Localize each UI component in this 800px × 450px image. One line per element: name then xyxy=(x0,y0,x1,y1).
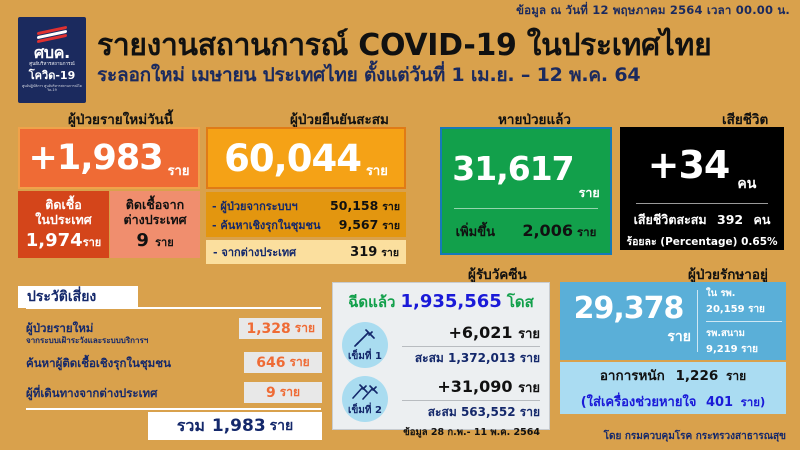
cumulative-row-unit: ราย xyxy=(382,218,400,234)
risk-history-title-tab: ประวัติเสี่ยง xyxy=(18,286,138,308)
dose-1-accum-unit: ราย xyxy=(520,351,540,365)
treating-hospital-label: ใน รพ. xyxy=(706,286,786,301)
syringe-single-icon xyxy=(352,327,378,349)
vaccine-panel: ฉีดแล้ว 1,935,565 โดส เข็มที่ 1 +6,021 ร… xyxy=(332,282,550,430)
foreign-label-line1: ติดเชื้อจาก xyxy=(123,198,186,212)
dose-1-delta: +6,021 xyxy=(449,323,513,342)
data-timestamp: ข้อมูล ณ วันที่ 12 พฤษภาคม 2564 เวลา 00.… xyxy=(516,2,790,20)
syringe-double-icon xyxy=(350,381,380,403)
recovered-value: 31,617 xyxy=(452,152,573,185)
divider xyxy=(706,321,782,322)
dose-2-accum-value: 563,552 xyxy=(461,405,516,419)
deaths-box: +34 คน เสียชีวิตสะสม 392 คน ร้อยละ (Perc… xyxy=(620,127,784,250)
treating-unit: ราย xyxy=(667,326,691,348)
new-cases-domestic-box: ติดเชื้อ ในประเทศ 1,974ราย xyxy=(18,191,109,258)
dose-1-delta-unit: ราย xyxy=(518,327,540,342)
ventilator-label: (ใส่เครื่องช่วยหายใจ xyxy=(581,395,697,410)
risk-row-chip: 646 ราย xyxy=(244,352,322,373)
dose-1-badge: เข็มที่ 1 xyxy=(342,322,388,368)
deaths-cumulative-label: เสียชีวิตสะสม xyxy=(634,212,707,227)
logo-subtitle-text: ศูนย์บริหารสถานการณ์ xyxy=(29,62,75,68)
risk-row-value: 646 xyxy=(256,355,285,371)
dose-2-delta-unit: ราย xyxy=(518,381,540,396)
divider xyxy=(26,408,321,410)
infographic-page: ข้อมูล ณ วันที่ 12 พฤษภาคม 2564 เวลา 00.… xyxy=(0,0,800,450)
risk-row-unit: ราย xyxy=(290,353,310,372)
page-subtitle: ระลอกใหม่ เมษายน ประเทศไทย ตั้งแต่วันที่… xyxy=(97,60,640,90)
new-cases-value: +1,983 xyxy=(29,141,163,176)
deaths-cumulative-value: 392 xyxy=(717,212,743,227)
foreign-unit: ราย xyxy=(155,236,174,249)
dose-2-label: เข็มที่ 2 xyxy=(348,403,382,418)
vaccine-dose-row: เข็มที่ 2 +31,090 ราย สะสม 563,552 ราย xyxy=(342,376,540,422)
vaccine-dose-row: เข็มที่ 1 +6,021 ราย สะสม 1,372,013 ราย xyxy=(342,322,540,368)
vaccine-injected-value: 1,935,565 xyxy=(400,291,501,312)
dose-2-delta: +31,090 xyxy=(437,377,512,396)
source-credit: โดย กรมควบคุมโรค กระทรวงสาธารณสุข xyxy=(604,429,786,444)
dose-1-accum-value: 1,372,013 xyxy=(448,351,516,365)
risk-row-value: 1,328 xyxy=(246,321,290,337)
treating-box: 29,378 ราย ใน รพ. 20,159 ราย รพ.สนาม 9,2… xyxy=(560,282,786,360)
deaths-percentage-value: 0.65% xyxy=(741,236,777,248)
risk-history-title: ประวัติเสี่ยง xyxy=(27,286,96,308)
cumulative-value: 60,044 xyxy=(224,140,361,177)
deaths-percentage-label: ร้อยละ (Percentage) xyxy=(626,236,737,248)
severe-value: 1,226 xyxy=(676,368,719,384)
risk-row-unit: ราย xyxy=(295,319,315,338)
divider xyxy=(636,203,768,204)
risk-total-unit: ราย xyxy=(270,415,294,437)
risk-row-sublabel: จากระบบเฝ้าระวังและระบบบริการฯ xyxy=(26,334,148,347)
risk-total-box: รวม 1,983 ราย xyxy=(148,412,322,440)
cumulative-row-unit: ราย xyxy=(382,199,400,215)
domestic-label-line1: ติดเชื้อ xyxy=(35,198,91,212)
new-cases-foreign-box: ติดเชื้อจาก ต่างประเทศ 9 ราย xyxy=(110,191,200,258)
dose-1-accum-label: สะสม xyxy=(415,351,444,365)
severe-cases-box: อาการหนัก 1,226 ราย (ใส่เครื่องช่วยหายใจ… xyxy=(560,362,786,414)
logo-covid-text: โควิด-19 xyxy=(29,69,75,82)
logo-main-text: ศบค. xyxy=(34,45,70,61)
new-cases-box: +1,983 ราย xyxy=(18,127,200,189)
recovered-unit: ราย xyxy=(579,183,600,203)
risk-row-chip: 9 ราย xyxy=(244,382,322,403)
risk-row: ค้นหาผู้ติดเชื้อเชิงรุกในชุมชน 646 ราย xyxy=(26,352,322,386)
cumulative-row-value: 50,158 xyxy=(330,196,378,215)
divider xyxy=(26,307,321,309)
risk-total-label: รวม xyxy=(177,414,205,439)
severe-label: อาการหนัก xyxy=(600,368,665,384)
recovered-delta-unit: ราย xyxy=(577,225,596,239)
treating-field-hospital-value: 9,219 ราย xyxy=(706,342,786,357)
domestic-unit: ราย xyxy=(83,236,102,249)
vaccine-injected-label: ฉีดแล้ว xyxy=(348,290,395,314)
dose-2-badge: เข็มที่ 2 xyxy=(342,376,388,422)
cumulative-abroad-row: - จากต่างประเทศ 319 ราย xyxy=(206,240,406,264)
risk-total-value: 1,983 xyxy=(212,416,266,436)
risk-row: ผู้ป่วยรายใหม่ จากระบบเฝ้าระวังและระบบบร… xyxy=(26,318,322,352)
dose-1-label: เข็มที่ 1 xyxy=(348,349,382,364)
treating-hospital-value: 20,159 ราย xyxy=(706,302,786,317)
cumulative-row: - ค้นหาเชิงรุกในชุมชน 9,567 ราย xyxy=(212,215,400,234)
domestic-label-line2: ในประเทศ xyxy=(35,213,91,227)
cumulative-row-label: - ผู้ป่วยจากระบบฯ xyxy=(212,198,330,215)
foreign-label-line2: ต่างประเทศ xyxy=(123,213,186,227)
new-cases-unit: ราย xyxy=(168,160,190,181)
risk-row-value: 9 xyxy=(266,385,276,401)
divider xyxy=(402,346,540,347)
divider xyxy=(402,400,540,401)
logo-footnote-text: ศูนย์ปฏิบัติการ ศูนย์บริหารสถานการณ์โควิ… xyxy=(18,84,86,93)
cumulative-row-value: 9,567 xyxy=(339,215,379,234)
abroad-value: 319 xyxy=(350,245,377,260)
foreign-value: 9 xyxy=(136,230,149,251)
abroad-unit: ราย xyxy=(381,244,399,261)
recovered-delta-value: 2,006 xyxy=(522,221,573,240)
risk-row-label: ผู้ที่เดินทางจากต่างประเทศ xyxy=(26,385,157,403)
deaths-value: +34 xyxy=(648,146,730,184)
vaccine-injected-unit: โดส xyxy=(507,290,534,314)
dose-2-accum-label: สะสม xyxy=(428,405,457,419)
treating-field-hospital-label: รพ.สนาม xyxy=(706,326,786,341)
cumulative-row-label: - ค้นหาเชิงรุกในชุมชน xyxy=(212,217,339,234)
treating-value: 29,378 xyxy=(574,294,684,324)
risk-row-chip: 1,328 ราย xyxy=(239,318,322,339)
recovered-delta-label: เพิ่มขึ้น xyxy=(456,221,495,242)
dose-2-accum-unit: ราย xyxy=(520,405,540,419)
severe-unit: ราย xyxy=(726,369,746,383)
vaccine-data-note: ข้อมูล 28 ก.พ.- 11 พ.ค. 2564 xyxy=(342,425,540,440)
deaths-unit: คน xyxy=(737,173,756,195)
ventilator-unit: ราย) xyxy=(741,395,766,409)
ccsa-logo: ศบค. ศูนย์บริหารสถานการณ์ โควิด-19 ศูนย์… xyxy=(18,17,86,103)
risk-row-unit: ราย xyxy=(280,383,300,402)
recovered-box: 31,617 ราย เพิ่มขึ้น 2,006ราย xyxy=(440,127,612,255)
cumulative-unit: ราย xyxy=(366,160,388,181)
cumulative-cases-box: 60,044 ราย xyxy=(206,127,406,189)
domestic-value: 1,974 xyxy=(26,230,83,251)
cumulative-row: - ผู้ป่วยจากระบบฯ 50,158 ราย xyxy=(212,196,400,215)
cumulative-breakdown: - ผู้ป่วยจากระบบฯ 50,158 ราย - ค้นหาเชิง… xyxy=(206,192,406,237)
flag-ribbon-icon xyxy=(37,28,67,44)
abroad-label: - จากต่างประเทศ xyxy=(213,243,350,261)
deaths-cumulative-unit: คน xyxy=(753,212,770,227)
risk-row-label: ค้นหาผู้ติดเชื้อเชิงรุกในชุมชน xyxy=(26,355,171,373)
risk-row: ผู้ที่เดินทางจากต่างประเทศ 9 ราย xyxy=(26,382,322,416)
ventilator-value: 401 xyxy=(706,395,733,410)
